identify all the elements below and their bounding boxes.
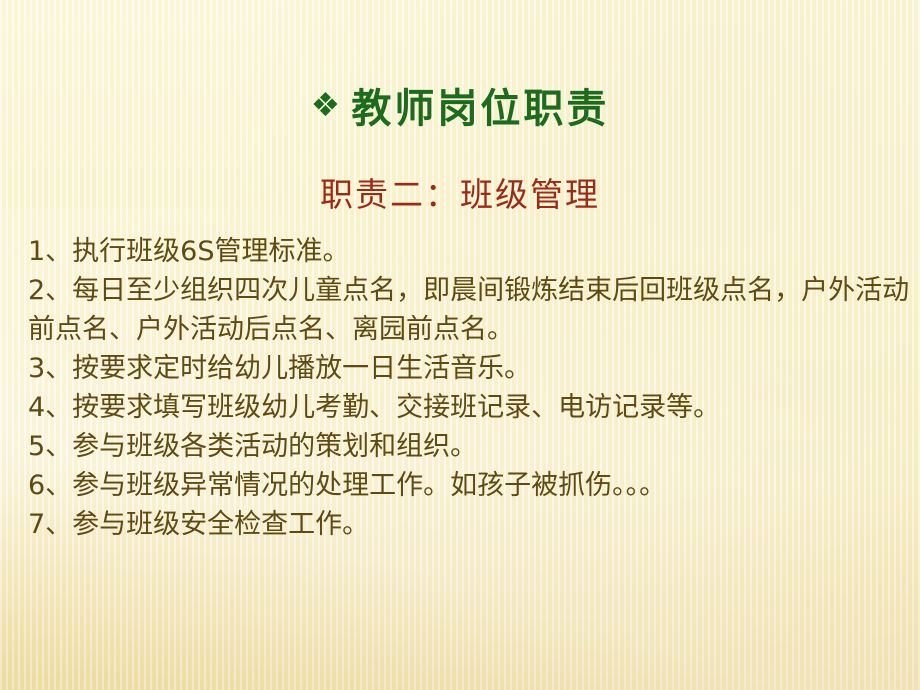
body-line-2: 2、每日至少组织四次儿童点名，即晨间锻炼结束后回班级点名，户外活动前点名、户外活… [28, 271, 920, 349]
body-line-3: 3、按要求定时给幼儿播放一日生活音乐。 [28, 349, 920, 388]
slide-title: ❖ 教师岗位职责 [0, 76, 920, 134]
body-line-1: 1、执行班级6S管理标准。 [28, 232, 920, 271]
body-line-5: 5、参与班级各类活动的策划和组织。 [28, 427, 920, 466]
body-line-7: 7、参与班级安全检查工作。 [28, 505, 920, 544]
body-line-4: 4、按要求填写班级幼儿考勤、交接班记录、电访记录等。 [28, 388, 920, 427]
diamond-bullet-icon: ❖ [311, 88, 341, 121]
slide-subtitle: 职责二：班级管理 [0, 168, 920, 216]
slide-canvas: ❖ 教师岗位职责 职责二：班级管理 1、执行班级6S管理标准。 2、每日至少组织… [0, 0, 920, 690]
slide-title-text: 教师岗位职责 [351, 76, 609, 134]
body-text-block: 1、执行班级6S管理标准。 2、每日至少组织四次儿童点名，即晨间锻炼结束后回班级… [28, 232, 920, 544]
body-line-6: 6、参与班级异常情况的处理工作。如孩子被抓伤。。。 [28, 466, 920, 505]
